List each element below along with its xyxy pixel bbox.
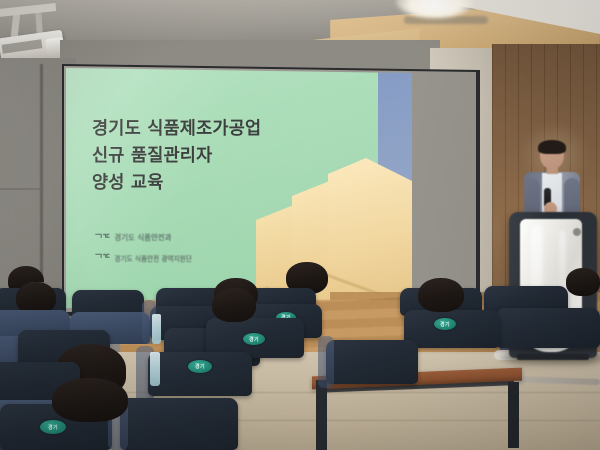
lecture-hall-photo: 경기도 식품제조가공업 신규 품질관리자 양성 교육 ᄀᄀᄃ 경기도 식품안전과… xyxy=(0,0,600,450)
wall-left-trim xyxy=(0,188,44,190)
seat-badge: 경기 xyxy=(434,318,456,330)
seat-badge-text: 경기 xyxy=(243,333,265,345)
slide-sheen xyxy=(66,68,412,308)
presentation-slide: 경기도 식품제조가공업 신규 품질관리자 양성 교육 ᄀᄀᄃ 경기도 식품안전과… xyxy=(66,68,412,308)
seat-back xyxy=(120,398,238,450)
seat-back xyxy=(496,308,600,348)
table-leg-left xyxy=(316,380,327,450)
seat-badge-text: 경기 xyxy=(188,360,212,373)
seat-badge-text: 경기 xyxy=(434,318,456,330)
podium-emblem-icon xyxy=(573,228,581,236)
audience-head xyxy=(566,268,600,296)
seat-back xyxy=(148,352,252,396)
water-bottle xyxy=(150,352,160,386)
seat-back xyxy=(326,340,418,384)
seat-armrest xyxy=(318,336,334,388)
seat-badge: 경기 xyxy=(243,333,265,345)
audience-head xyxy=(418,278,464,312)
water-bottle xyxy=(152,314,161,344)
seat-badge: 경기 xyxy=(40,420,66,434)
podium-base xyxy=(517,354,589,360)
presenter-hair xyxy=(538,140,566,154)
seat-badge-text: 경기 xyxy=(40,420,66,434)
audience-head xyxy=(52,378,128,422)
table-leg-right xyxy=(508,382,519,448)
seat-badge: 경기 xyxy=(188,360,212,373)
audience-head xyxy=(212,288,256,322)
